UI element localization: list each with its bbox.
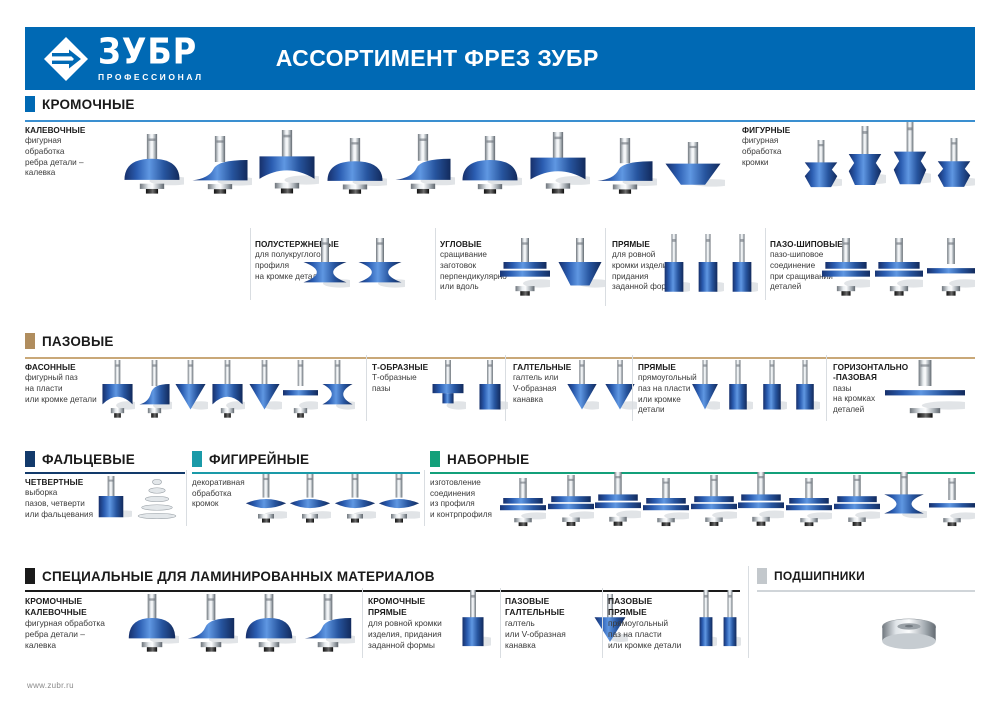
router-bit-image: [593, 138, 657, 196]
brand-logo: ЗУБР ПРОФЕССИОНАЛ: [43, 36, 206, 82]
router-bit-image: [323, 138, 387, 196]
section-header-kromochnye: КРОМОЧНЫЕ: [25, 96, 135, 112]
group-desc-line: или кромке детали: [25, 395, 97, 406]
bit-row-fasonnye: [100, 358, 355, 420]
router-bit-image: [90, 476, 132, 526]
section-title: КРОМОЧНЫЕ: [42, 97, 135, 112]
router-bit-image: [301, 594, 355, 654]
group-desc-line: паз на пласти: [638, 384, 697, 395]
router-bit-image: [927, 238, 975, 298]
column-divider: [632, 355, 633, 421]
group-desc-line: калевка: [25, 640, 105, 651]
group-label-t-obraznye: Т-ОБРАЗНЫЕТ-образныепазы: [372, 363, 428, 395]
page-title: АССОРТИМЕНТ ФРЕЗ ЗУБР: [276, 45, 599, 72]
group-desc-line: фигурная обработка: [25, 618, 105, 629]
router-bit-image: [692, 234, 724, 304]
group-desc-line: для ровной кромки: [368, 618, 442, 629]
router-bit-image: [120, 134, 184, 196]
section-title: НАБОРНЫЕ: [447, 452, 529, 467]
router-bit-image: [378, 474, 420, 528]
group-desc-line: на пласти: [25, 384, 97, 395]
section-header-pazovye: ПАЗОВЫЕ: [25, 333, 114, 349]
router-bit-image: [881, 472, 927, 528]
bit-row-kromochnye-kalevochnye: [125, 592, 355, 654]
group-desc-line: и контрпрофиля: [430, 510, 492, 521]
router-bit-image: [458, 136, 522, 196]
section-title: ПОДШИПНИКИ: [774, 569, 865, 583]
router-bit-image: [800, 140, 842, 196]
group-desc-line: обработка: [25, 147, 85, 158]
bit-row-gorizontalno-pazovaya: [885, 358, 973, 420]
group-desc-line: или кромке детали: [608, 640, 681, 651]
group-desc-line: или вдоль: [440, 282, 507, 293]
column-divider: [748, 566, 749, 658]
router-bit-image: [300, 238, 350, 298]
group-desc-line: паз на пласти: [608, 629, 681, 640]
bit-row-pazovye-pryamye: [695, 588, 741, 658]
group-label-kalevochnye: КАЛЕВОЧНЫЕфигурнаяобработкаребра детали …: [25, 126, 85, 179]
group-title: КАЛЕВОЧНЫЕ: [25, 607, 105, 618]
router-bit-image: [173, 360, 208, 420]
group-desc-line: изготовление: [430, 478, 492, 489]
group-label-pazovye-galtelnye: ПАЗОВЫЕГАЛТЕЛЬНЫЕгалтельили V-образнаяка…: [505, 596, 566, 651]
router-bit-image: [472, 360, 508, 420]
router-bit-image: [100, 360, 135, 420]
column-divider: [250, 228, 251, 300]
footer-website: www.zubr.ru: [27, 681, 74, 690]
group-title: КРОМОЧНЫЕ: [25, 596, 105, 607]
group-desc-line: соединения: [430, 489, 492, 500]
group-title: ПРЯМЫЕ: [638, 363, 697, 373]
group-label-galtelnye: ГАЛТЕЛЬНЫЕгалтель илиV-образнаяканавка: [513, 363, 571, 405]
router-bit-image: [455, 590, 491, 658]
bit-row-podshipniki-grp: [880, 612, 940, 652]
group-desc-line: детали: [638, 405, 697, 416]
router-bit-image: [500, 478, 546, 528]
column-divider: [605, 228, 606, 306]
group-desc-line: калевка: [25, 168, 85, 179]
group-desc-line: ребра детали –: [25, 629, 105, 640]
bearing-image: [880, 616, 938, 652]
group-label-kromochnye-kalevochnye: КРОМОЧНЫЕКАЛЕВОЧНЫЕфигурная обработкареб…: [25, 596, 105, 651]
group-desc-line: кромок: [192, 499, 245, 510]
router-bit-image: [355, 238, 405, 298]
group-title: ПАЗОВЫЕ: [608, 596, 681, 607]
group-desc-line: из профиля: [430, 499, 492, 510]
cone-bearing-set-image: [136, 476, 178, 526]
column-divider: [424, 470, 425, 526]
group-title: КАЛЕВОЧНЫЕ: [25, 126, 85, 136]
router-bit-image: [790, 360, 820, 420]
router-bit-image: [247, 360, 282, 420]
router-bit-image: [526, 132, 590, 196]
router-bit-image: [595, 472, 641, 528]
section-color-chip: [25, 451, 35, 467]
router-bit-image: [430, 360, 466, 420]
bit-row-kromochnye-pryamye: [455, 588, 497, 658]
bit-row-nabornye-grp: [500, 474, 975, 528]
router-bit-image: [786, 478, 832, 528]
zubr-diamond-arrow-logo-icon: [43, 36, 89, 82]
group-desc-line: или V-образная: [505, 629, 566, 640]
group-title: ГАЛТЕЛЬНЫЕ: [505, 607, 566, 618]
group-title: ПРЯМЫЕ: [368, 607, 442, 618]
group-title: ФАСОННЫЕ: [25, 363, 97, 373]
router-bit-image: [875, 238, 923, 298]
router-bit-image: [643, 478, 689, 528]
group-desc-line: обработка: [192, 489, 245, 500]
router-bit-image: [929, 478, 975, 528]
router-bit-image: [658, 234, 690, 304]
group-desc-line: заданной формы: [368, 640, 442, 651]
group-desc-line: обработка: [742, 147, 790, 158]
column-divider: [362, 588, 363, 658]
group-desc-line: канавка: [505, 640, 566, 651]
router-bit-image: [738, 472, 784, 528]
router-bit-image: [245, 474, 287, 528]
group-label-uglovye: УГЛОВЫЕсращиваниезаготовокперпендикулярн…: [440, 240, 507, 293]
router-bit-image: [757, 360, 787, 420]
router-bit-image: [283, 360, 318, 420]
bit-row-pryamye-kromochnye: [658, 232, 758, 304]
router-bit-image: [391, 134, 455, 196]
group-desc-line: фигурная: [25, 136, 85, 147]
column-divider: [366, 355, 367, 421]
bit-row-t-obraznye: [430, 358, 508, 420]
column-divider: [765, 228, 766, 300]
bit-row-figireynye-grp: [245, 472, 420, 528]
section-rule-podshipniki: [757, 590, 975, 592]
router-bit-image: [255, 130, 319, 196]
group-desc-line: галтель: [505, 618, 566, 629]
bit-row-figurnye: [800, 122, 975, 196]
column-divider: [500, 588, 501, 658]
router-bit-image: [690, 360, 720, 420]
section-header-podshipniki: ПОДШИПНИКИ: [757, 568, 865, 584]
router-bit-image: [137, 360, 172, 420]
page-header: ЗУБР ПРОФЕССИОНАЛ АССОРТИМЕНТ ФРЕЗ ЗУБР: [25, 27, 975, 90]
router-bit-image: [695, 590, 717, 658]
group-title: УГЛОВЫЕ: [440, 240, 507, 250]
router-bit-image: [210, 360, 245, 420]
group-desc-line: кромки: [742, 158, 790, 169]
group-desc-line: канавка: [513, 395, 571, 406]
bit-row-chetvertnye: [90, 474, 178, 526]
router-bit-image: [188, 136, 252, 196]
section-title: СПЕЦИАЛЬНЫЕ ДЛЯ ЛАМИНИРОВАННЫХ МАТЕРИАЛО…: [42, 569, 435, 584]
group-title: ПАЗОВЫЕ: [505, 596, 566, 607]
section-header-faltsevye: ФАЛЬЦЕВЫЕ: [25, 451, 135, 467]
group-desc-line: или фальцевания: [25, 510, 93, 521]
router-bit-image: [334, 474, 376, 528]
column-divider: [826, 355, 827, 421]
group-title: КРОМОЧНЫЕ: [368, 596, 442, 607]
group-title: ГАЛТЕЛЬНЫЕ: [513, 363, 571, 373]
bit-row-pazo-shipovye: [822, 236, 975, 298]
section-header-specialnye: СПЕЦИАЛЬНЫЕ ДЛЯ ЛАМИНИРОВАННЫХ МАТЕРИАЛО…: [25, 568, 435, 584]
group-label-nabornye-grp: изготовлениесоединенияиз профиляи контрп…: [430, 478, 492, 520]
column-divider: [435, 228, 436, 300]
section-color-chip: [757, 568, 767, 584]
group-desc-line: изделия, придания: [368, 629, 442, 640]
group-desc-line: заготовок: [440, 261, 507, 272]
group-desc-line: или кромке: [638, 395, 697, 406]
router-bit-image: [242, 594, 296, 654]
section-color-chip: [25, 568, 35, 584]
router-bit-image: [500, 238, 550, 298]
router-bit-image: [723, 360, 753, 420]
group-title: ЧЕТВЕРТНЫЕ: [25, 478, 93, 488]
group-desc-line: фигурный паз: [25, 373, 97, 384]
router-bit-image: [822, 238, 870, 298]
column-divider: [186, 470, 187, 526]
section-header-nabornye: НАБОРНЫЕ: [430, 451, 529, 467]
group-label-kromochnye-pryamye: КРОМОЧНЫЕПРЯМЫЕдля ровной кромкиизделия,…: [368, 596, 442, 651]
section-header-figireynye: ФИГИРЕЙНЫЕ: [192, 451, 309, 467]
group-desc-line: выборка: [25, 488, 93, 499]
group-title: ПРЯМЫЕ: [608, 607, 681, 618]
group-desc-line: ребра детали –: [25, 158, 85, 169]
group-desc-line: прямоугольный: [638, 373, 697, 384]
section-color-chip: [25, 333, 35, 349]
section-title: ФАЛЬЦЕВЫЕ: [42, 452, 135, 467]
router-bit-image: [726, 234, 758, 304]
group-desc-line: пазов, четверти: [25, 499, 93, 510]
router-bit-image: [125, 594, 179, 654]
column-divider: [602, 588, 603, 658]
router-bit-image: [548, 475, 594, 528]
bit-row-kalevochnye: [120, 124, 725, 196]
group-desc-line: фигурная: [742, 136, 790, 147]
bit-row-galtelnye: [565, 358, 637, 420]
router-bit-image: [320, 360, 355, 420]
router-bit-image: [555, 238, 605, 298]
router-bit-image: [691, 475, 737, 528]
router-bit-image: [184, 594, 238, 654]
group-label-figireynye-grp: декоративнаяобработкакромок: [192, 478, 245, 510]
brand-tagline: ПРОФЕССИОНАЛ: [98, 72, 206, 82]
group-desc-line: перпендикулярно: [440, 272, 507, 283]
bit-row-pryamye-pazovye: [690, 358, 820, 420]
section-color-chip: [430, 451, 440, 467]
group-desc-line: галтель или: [513, 373, 571, 384]
router-bit-image: [719, 590, 741, 658]
brand-name: ЗУБР: [98, 34, 206, 68]
group-desc-line: декоративная: [192, 478, 245, 489]
group-title: Т-ОБРАЗНЫЕ: [372, 363, 428, 373]
group-desc-line: Т-образные: [372, 373, 428, 384]
group-label-chetvertnye: ЧЕТВЕРТНЫЕвыборкапазов, четвертиили фаль…: [25, 478, 93, 520]
section-color-chip: [192, 451, 202, 467]
section-color-chip: [25, 96, 35, 112]
router-bit-image: [889, 122, 931, 196]
group-title: ФИГУРНЫЕ: [742, 126, 790, 136]
catalog-poster: ЗУБР ПРОФЕССИОНАЛ АССОРТИМЕНТ ФРЕЗ ЗУБР …: [0, 0, 1000, 707]
group-label-fasonnye: ФАСОННЫЕфигурный пазна пластиили кромке …: [25, 363, 97, 405]
group-label-pazovye-pryamye: ПАЗОВЫЕПРЯМЫЕпрямоугольныйпаз на пластии…: [608, 596, 681, 651]
router-bit-image: [661, 142, 725, 196]
group-label-pryamye-pazovye: ПРЯМЫЕпрямоугольныйпаз на пластиили кром…: [638, 363, 697, 416]
group-desc-line: прямоугольный: [608, 618, 681, 629]
router-bit-image: [565, 360, 599, 420]
bit-row-polusterzhnevye: [300, 236, 405, 298]
router-bit-image: [933, 138, 975, 196]
router-bit-image: [844, 126, 886, 196]
group-desc-line: пазы: [372, 384, 428, 395]
group-desc-line: V-образная: [513, 384, 571, 395]
router-bit-image: [834, 475, 880, 528]
group-desc-line: сращивание: [440, 250, 507, 261]
router-bit-image: [289, 474, 331, 528]
bit-row-uglovye: [500, 236, 605, 298]
column-divider: [505, 355, 506, 421]
section-title: ФИГИРЕЙНЫЕ: [209, 452, 309, 467]
router-bit-image: [885, 360, 965, 420]
section-title: ПАЗОВЫЕ: [42, 334, 114, 349]
group-label-figurnye: ФИГУРНЫЕфигурнаяобработкакромки: [742, 126, 790, 168]
